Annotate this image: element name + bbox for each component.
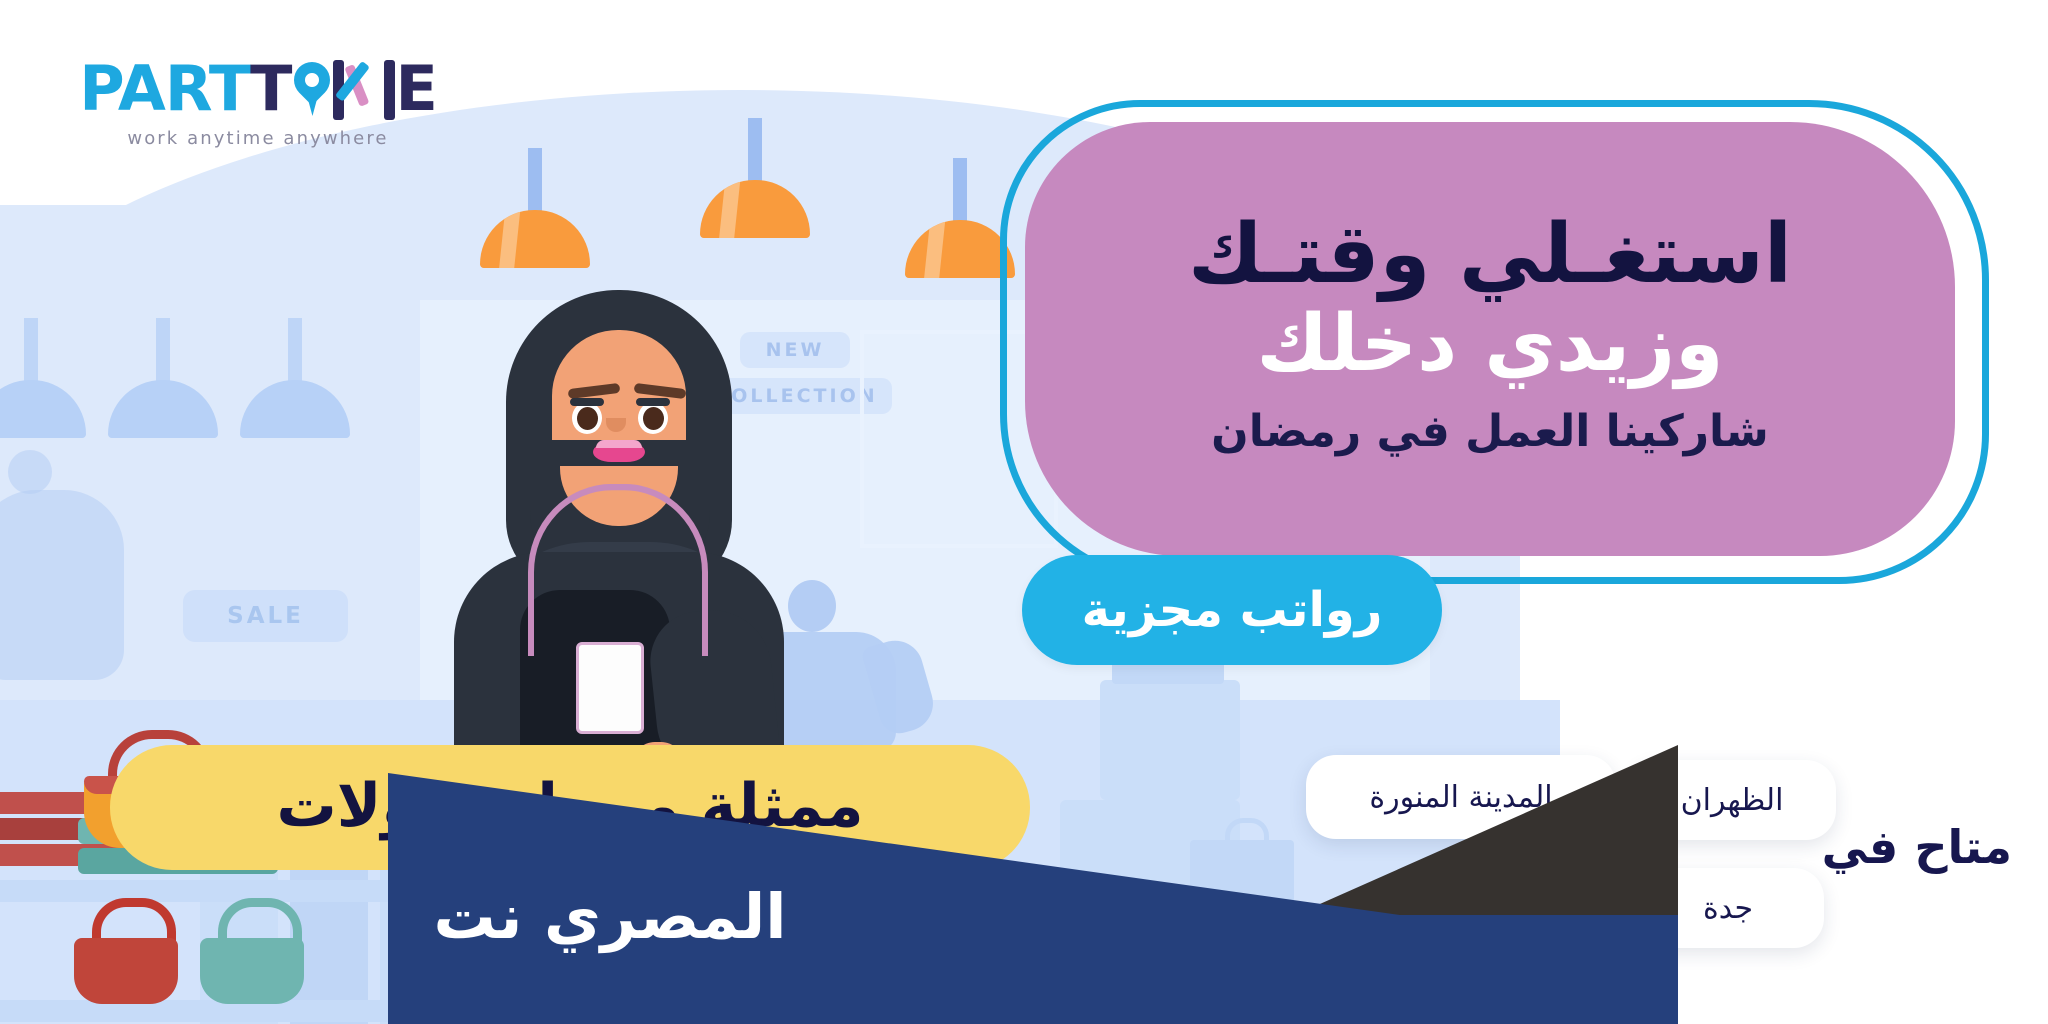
lanyard: [528, 484, 708, 656]
availability-label: متاح في: [1822, 820, 2012, 874]
eye-left: [572, 402, 602, 434]
logo-tagline: work anytime anywhere: [127, 128, 388, 149]
display-box-1: [1100, 680, 1240, 800]
city-pill-jeddah-label: جدة: [1703, 891, 1753, 926]
eyelid-left: [570, 398, 604, 406]
employee-id-badge: [576, 642, 644, 734]
salary-badge-label: رواتب مجزية: [1082, 582, 1383, 638]
logo-m-checkmark-icon: [333, 58, 395, 120]
location-pin-icon: [292, 58, 332, 120]
logo-wordmark: PART T E: [79, 58, 437, 120]
saleswoman-illustration: [410, 290, 830, 790]
watermark-label: المصري نت: [400, 880, 820, 953]
lip-highlight: [596, 440, 642, 448]
city-pill-dhahran-label: الظهران: [1681, 783, 1784, 818]
sale-sign: SALE: [183, 590, 348, 642]
logo-text-e: E: [395, 58, 436, 120]
logo-text-part: PART: [79, 58, 250, 120]
mannequin-body-left: [0, 490, 124, 680]
handbag-teal: [200, 938, 304, 1004]
partime-logo: PART T E work anytime anywhere: [88, 58, 428, 154]
eyelid-right: [636, 398, 670, 406]
handbag-red: [74, 938, 178, 1004]
banner-canvas: SALE NEW COLLECTION: [0, 0, 2048, 1024]
salary-badge[interactable]: رواتب مجزية: [1022, 555, 1442, 665]
mannequin-head-left: [8, 450, 52, 494]
hero-bubble: استغـلي وقتـك وزيدي دخلك شاركينا العمل ف…: [1025, 122, 1955, 556]
logo-text-t: T: [250, 58, 291, 120]
eye-right: [638, 402, 668, 434]
hero-subline: شاركينا العمل في رمضان: [1211, 406, 1769, 459]
headline-line-1: استغـلي وقتـك: [1188, 213, 1792, 297]
city-pill-madinah-label: المدينة المنورة: [1369, 780, 1552, 815]
headline-line-2: وزيدي دخلك: [1256, 301, 1723, 388]
